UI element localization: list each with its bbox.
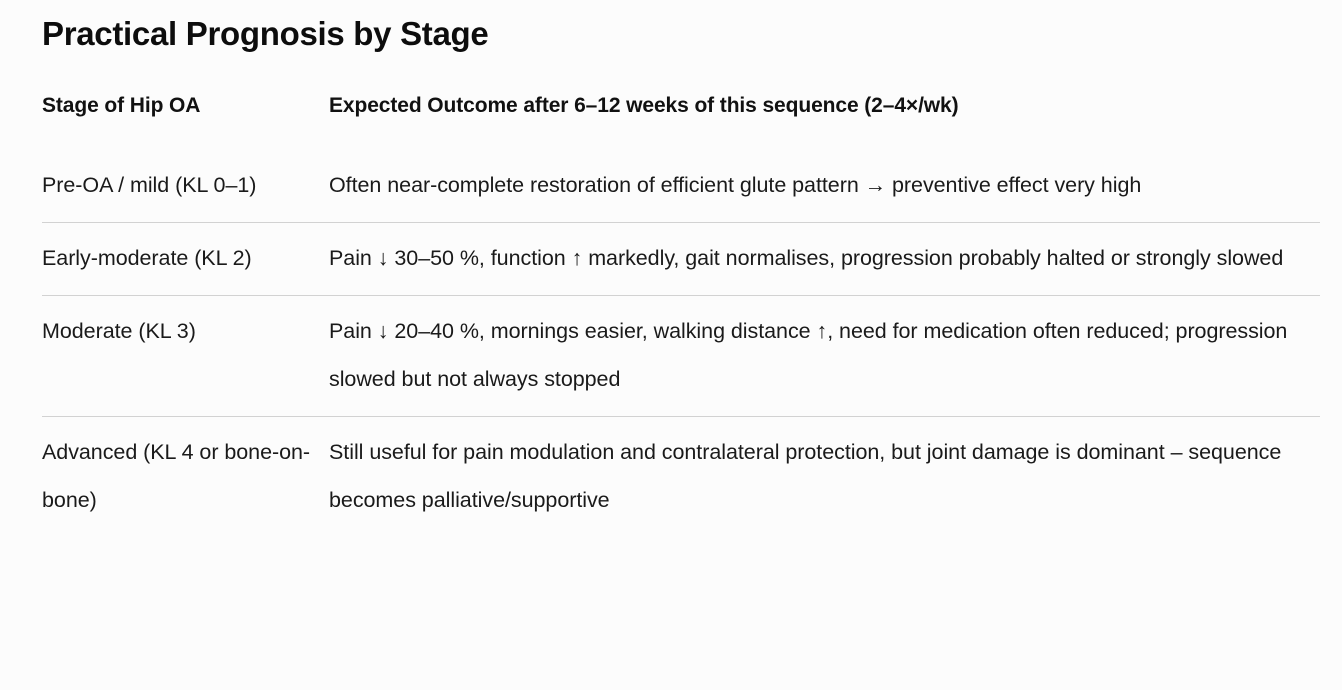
table-header-row: Stage of Hip OA Expected Outcome after 6… (42, 92, 1320, 150)
table-row: Early-moderate (KL 2) Pain ↓ 30–50 %, fu… (42, 222, 1320, 295)
cell-outcome: Pain ↓ 20–40 %, mornings easier, walking… (329, 295, 1320, 416)
table-body: Pre-OA / mild (KL 0–1) Often near-comple… (42, 150, 1320, 537)
cell-outcome: Often near-complete restoration of effic… (329, 150, 1320, 223)
cell-stage: Moderate (KL 3) (42, 295, 329, 416)
cell-outcome: Pain ↓ 30–50 %, function ↑ markedly, gai… (329, 222, 1320, 295)
table-row: Advanced (KL 4 or bone-on-bone) Still us… (42, 416, 1320, 537)
prognosis-page: Practical Prognosis by Stage Stage of Hi… (0, 0, 1342, 690)
prognosis-table: Stage of Hip OA Expected Outcome after 6… (42, 92, 1320, 537)
table-row: Pre-OA / mild (KL 0–1) Often near-comple… (42, 150, 1320, 223)
cell-stage: Advanced (KL 4 or bone-on-bone) (42, 416, 329, 537)
cell-outcome: Still useful for pain modulation and con… (329, 416, 1320, 537)
page-title: Practical Prognosis by Stage (42, 0, 1320, 54)
cell-stage: Pre-OA / mild (KL 0–1) (42, 150, 329, 223)
table-header: Stage of Hip OA Expected Outcome after 6… (42, 92, 1320, 150)
table-row: Moderate (KL 3) Pain ↓ 20–40 %, mornings… (42, 295, 1320, 416)
cell-stage: Early-moderate (KL 2) (42, 222, 329, 295)
column-header-outcome: Expected Outcome after 6–12 weeks of thi… (329, 92, 1320, 150)
column-header-stage: Stage of Hip OA (42, 92, 329, 150)
